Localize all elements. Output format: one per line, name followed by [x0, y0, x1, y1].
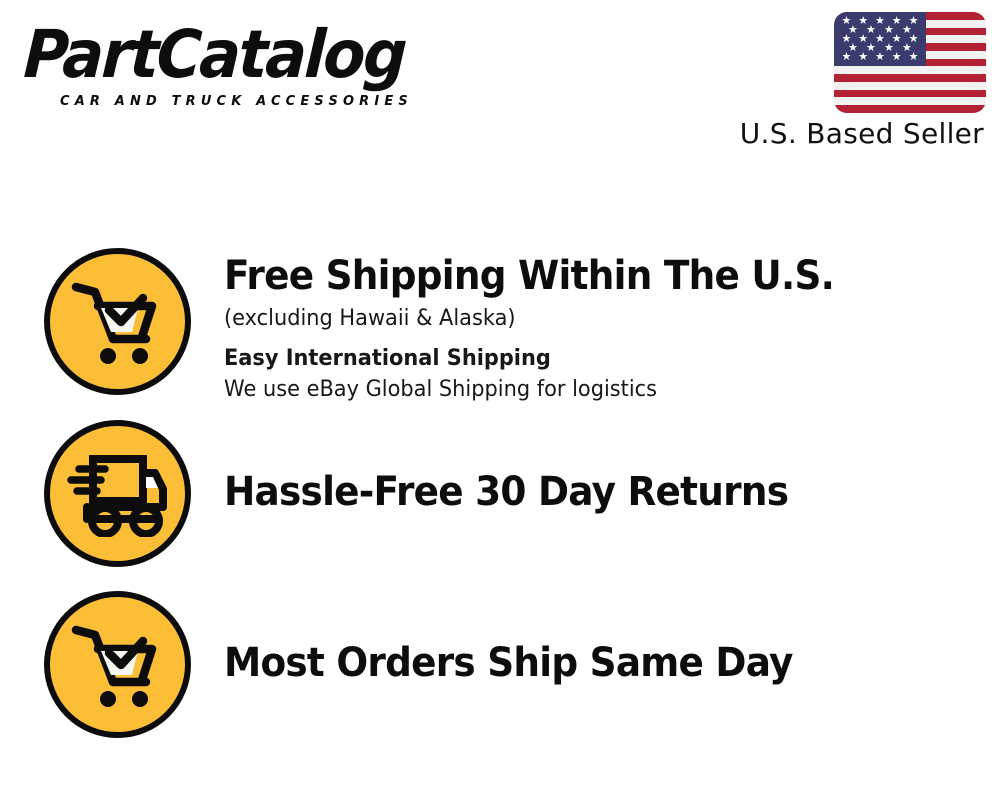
brand-logo: PartCatalog CAR AND TRUCK ACCESSORIES	[24, 18, 494, 109]
us-flag-icon: ★ ★ ★ ★ ★ ★ ★ ★ ★ ★ ★ ★ ★ ★	[834, 12, 986, 113]
delivery-truck-icon	[44, 420, 191, 567]
feature-subtext-exclusion: (excluding Hawaii & Alaska)	[224, 304, 961, 334]
shopping-cart-check-icon	[44, 591, 191, 738]
flag-stripe	[834, 74, 986, 82]
feature-headline: Free Shipping Within The U.S.	[224, 252, 950, 300]
us-based-seller-badge: ★ ★ ★ ★ ★ ★ ★ ★ ★ ★ ★ ★ ★ ★	[716, 12, 986, 151]
star-icon: ★	[858, 53, 868, 62]
feature-subtext-international: Easy International Shipping	[224, 344, 961, 374]
flag-stripe	[834, 97, 986, 105]
shopping-cart-check-icon	[44, 248, 191, 395]
star-icon: ★	[875, 53, 885, 62]
flag-stripe	[834, 90, 986, 98]
page-header: PartCatalog CAR AND TRUCK ACCESSORIES ★ …	[0, 0, 1000, 175]
star-row: ★ ★ ★ ★ ★	[838, 53, 922, 62]
feature-row: Hassle-Free 30 Day Returns	[0, 420, 1000, 567]
us-based-seller-label: U.S. Based Seller	[716, 117, 986, 151]
feature-subtext-logistics: We use eBay Global Shipping for logistic…	[224, 375, 961, 405]
feature-row: Free Shipping Within The U.S. (excluding…	[0, 248, 1000, 405]
star-icon: ★	[909, 53, 919, 62]
flag-stripe	[834, 82, 986, 90]
flag-stripe	[834, 105, 986, 113]
feature-headline: Most Orders Ship Same Day	[224, 595, 950, 687]
star-icon: ★	[892, 53, 902, 62]
feature-text: Most Orders Ship Same Day	[224, 591, 1000, 687]
flag-stripe	[834, 66, 986, 74]
feature-headline: Hassle-Free 30 Day Returns	[224, 424, 950, 516]
brand-wordmark: PartCatalog	[22, 18, 463, 92]
star-icon: ★	[841, 53, 851, 62]
feature-text: Hassle-Free 30 Day Returns	[224, 420, 1000, 516]
feature-row: Most Orders Ship Same Day	[0, 591, 1000, 738]
brand-tagline: CAR AND TRUCK ACCESSORIES	[60, 93, 477, 109]
flag-canton: ★ ★ ★ ★ ★ ★ ★ ★ ★ ★ ★ ★ ★ ★	[834, 12, 926, 66]
feature-text: Free Shipping Within The U.S. (excluding…	[224, 248, 1000, 405]
